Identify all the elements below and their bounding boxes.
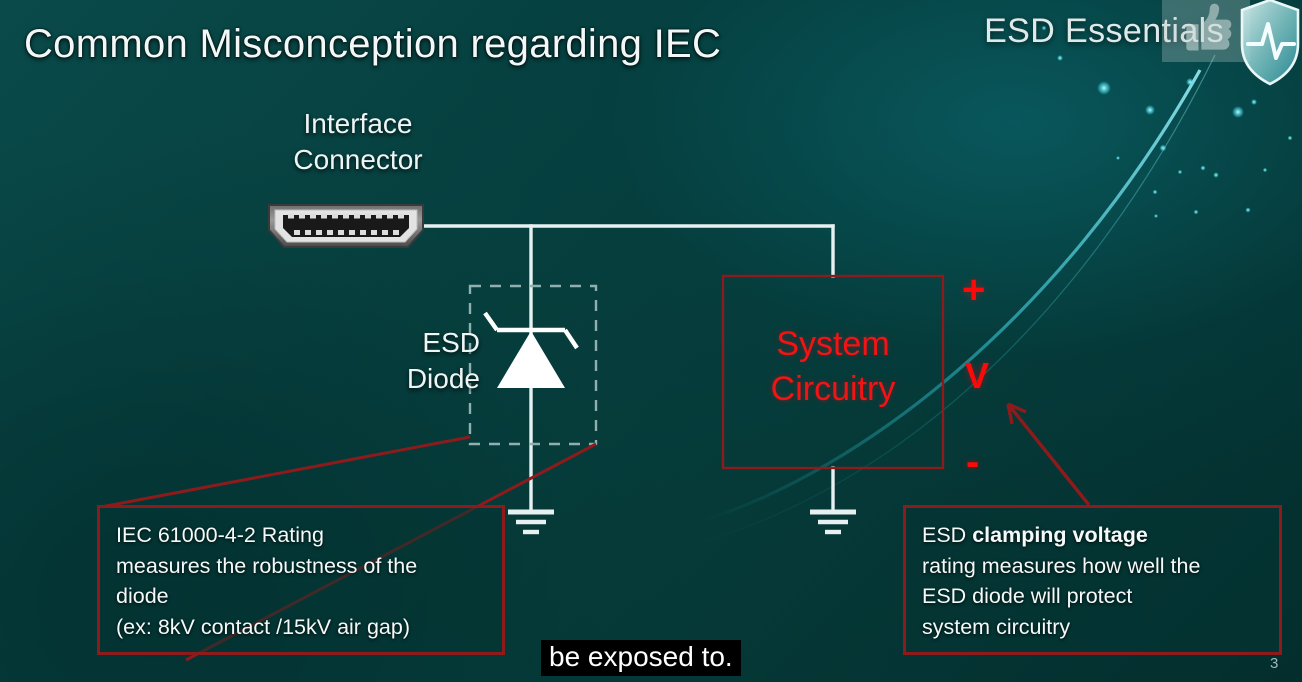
slide-canvas: Common Misconception regarding IEC ESD E… (0, 0, 1302, 682)
esd-diode-label-line1: ESD (350, 325, 480, 361)
slide-title: Common Misconception regarding IEC (24, 22, 721, 67)
callout-clamping-voltage: ESD clamping voltage rating measures how… (903, 505, 1282, 655)
callout-right-line3: ESD diode will protect (922, 581, 1265, 612)
callout-left-line2: measures the robustness of the (116, 551, 488, 582)
system-circuitry-label-line2: Circuitry (723, 367, 943, 412)
polarity-minus-marker: - (966, 440, 979, 485)
system-circuitry-label-line1: System (723, 322, 943, 367)
callout-right-lead: ESD (922, 523, 972, 547)
esd-diode-label: ESD Diode (350, 325, 480, 397)
callout-left-line1: IEC 61000-4-2 Rating (116, 520, 488, 551)
callout-right-line1: ESD clamping voltage (922, 520, 1265, 551)
polarity-plus-marker: + (962, 268, 985, 313)
callout-iec-rating: IEC 61000-4-2 Rating measures the robust… (97, 505, 505, 655)
ground-symbol-system (810, 512, 856, 532)
clamping-voltage-marker: V (965, 355, 989, 397)
esd-diode-package-outline (470, 286, 596, 444)
thumbs-up-icon (1176, 0, 1236, 58)
zener-diode-symbol (485, 313, 577, 388)
system-circuitry-label: System Circuitry (723, 322, 943, 412)
interface-connector-label: Interface Connector (268, 106, 448, 178)
esd-diode-label-line2: Diode (350, 361, 480, 397)
page-number: 3 (1270, 655, 1278, 672)
interface-connector-label-line2: Connector (268, 142, 448, 178)
interface-connector-icon (266, 200, 426, 252)
ground-symbol-diode (508, 512, 554, 532)
right-callout-arrow (1008, 404, 1089, 505)
callout-right-line2: rating measures how well the (922, 551, 1265, 582)
interface-connector-label-line1: Interface (268, 106, 448, 142)
callout-right-emphasis: clamping voltage (972, 523, 1148, 547)
video-caption: be exposed to. (541, 640, 741, 676)
callout-left-line4: (ex: 8kV contact /15kV air gap) (116, 612, 488, 643)
shield-pulse-icon (1236, 0, 1302, 90)
callout-right-line4: system circuitry (922, 612, 1265, 643)
callout-left-line3: diode (116, 581, 488, 612)
